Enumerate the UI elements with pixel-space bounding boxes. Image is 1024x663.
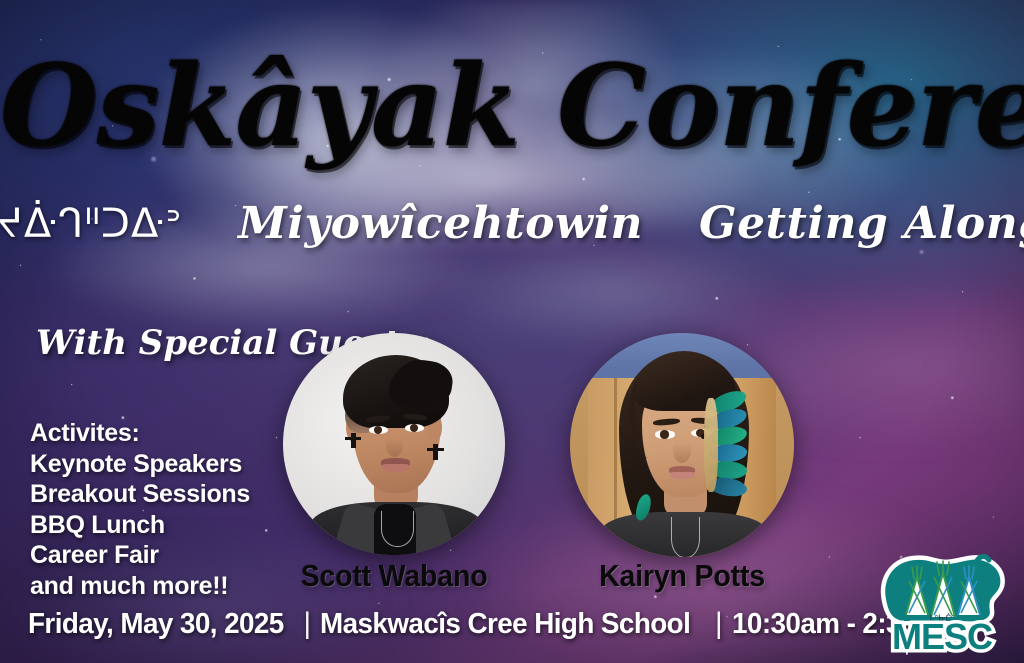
activity-item-more: and much more!! xyxy=(30,571,290,602)
speaker-name-scott-wabano: Scott Wabano xyxy=(292,558,496,594)
activity-item-bbq: BBQ Lunch xyxy=(30,510,290,541)
event-venue: Maskwacîs Cree High School xyxy=(320,608,690,641)
speaker-name-kairyn-potts: Kairyn Potts xyxy=(579,558,785,594)
portrait-figure xyxy=(570,333,794,557)
detail-separator: | xyxy=(715,607,723,641)
portrait-figure xyxy=(283,333,505,555)
activities-list: Activites: Keynote Speakers Breakout Ses… xyxy=(30,418,290,601)
event-details-bar: Friday, May 30, 2025 | Maskwacîs Cree Hi… xyxy=(28,607,965,641)
cross-earring-icon xyxy=(433,444,438,460)
logo-wordmark: MESC xyxy=(892,616,993,655)
detail-separator: | xyxy=(303,607,311,641)
speaker-portrait-scott-wabano xyxy=(283,333,505,555)
event-date: Friday, May 30, 2025 xyxy=(28,608,284,641)
conference-poster: Oskâyak Conference ᒥᔪᐑᒉᐦᑐᐏᐣ Miyowîcehtow… xyxy=(0,0,1024,663)
activities-heading: Activites: xyxy=(30,418,290,449)
activity-item-keynote: Keynote Speakers xyxy=(30,449,290,480)
activity-item-career: Career Fair xyxy=(30,540,290,571)
cross-earring-icon xyxy=(351,433,356,449)
mesc-logo: ᒪᐢᑿᒌᐢ MESC xyxy=(876,551,1008,655)
teepee-icon-group xyxy=(906,561,980,617)
activity-item-breakout: Breakout Sessions xyxy=(30,479,290,510)
speaker-portrait-kairyn-potts xyxy=(570,333,794,557)
